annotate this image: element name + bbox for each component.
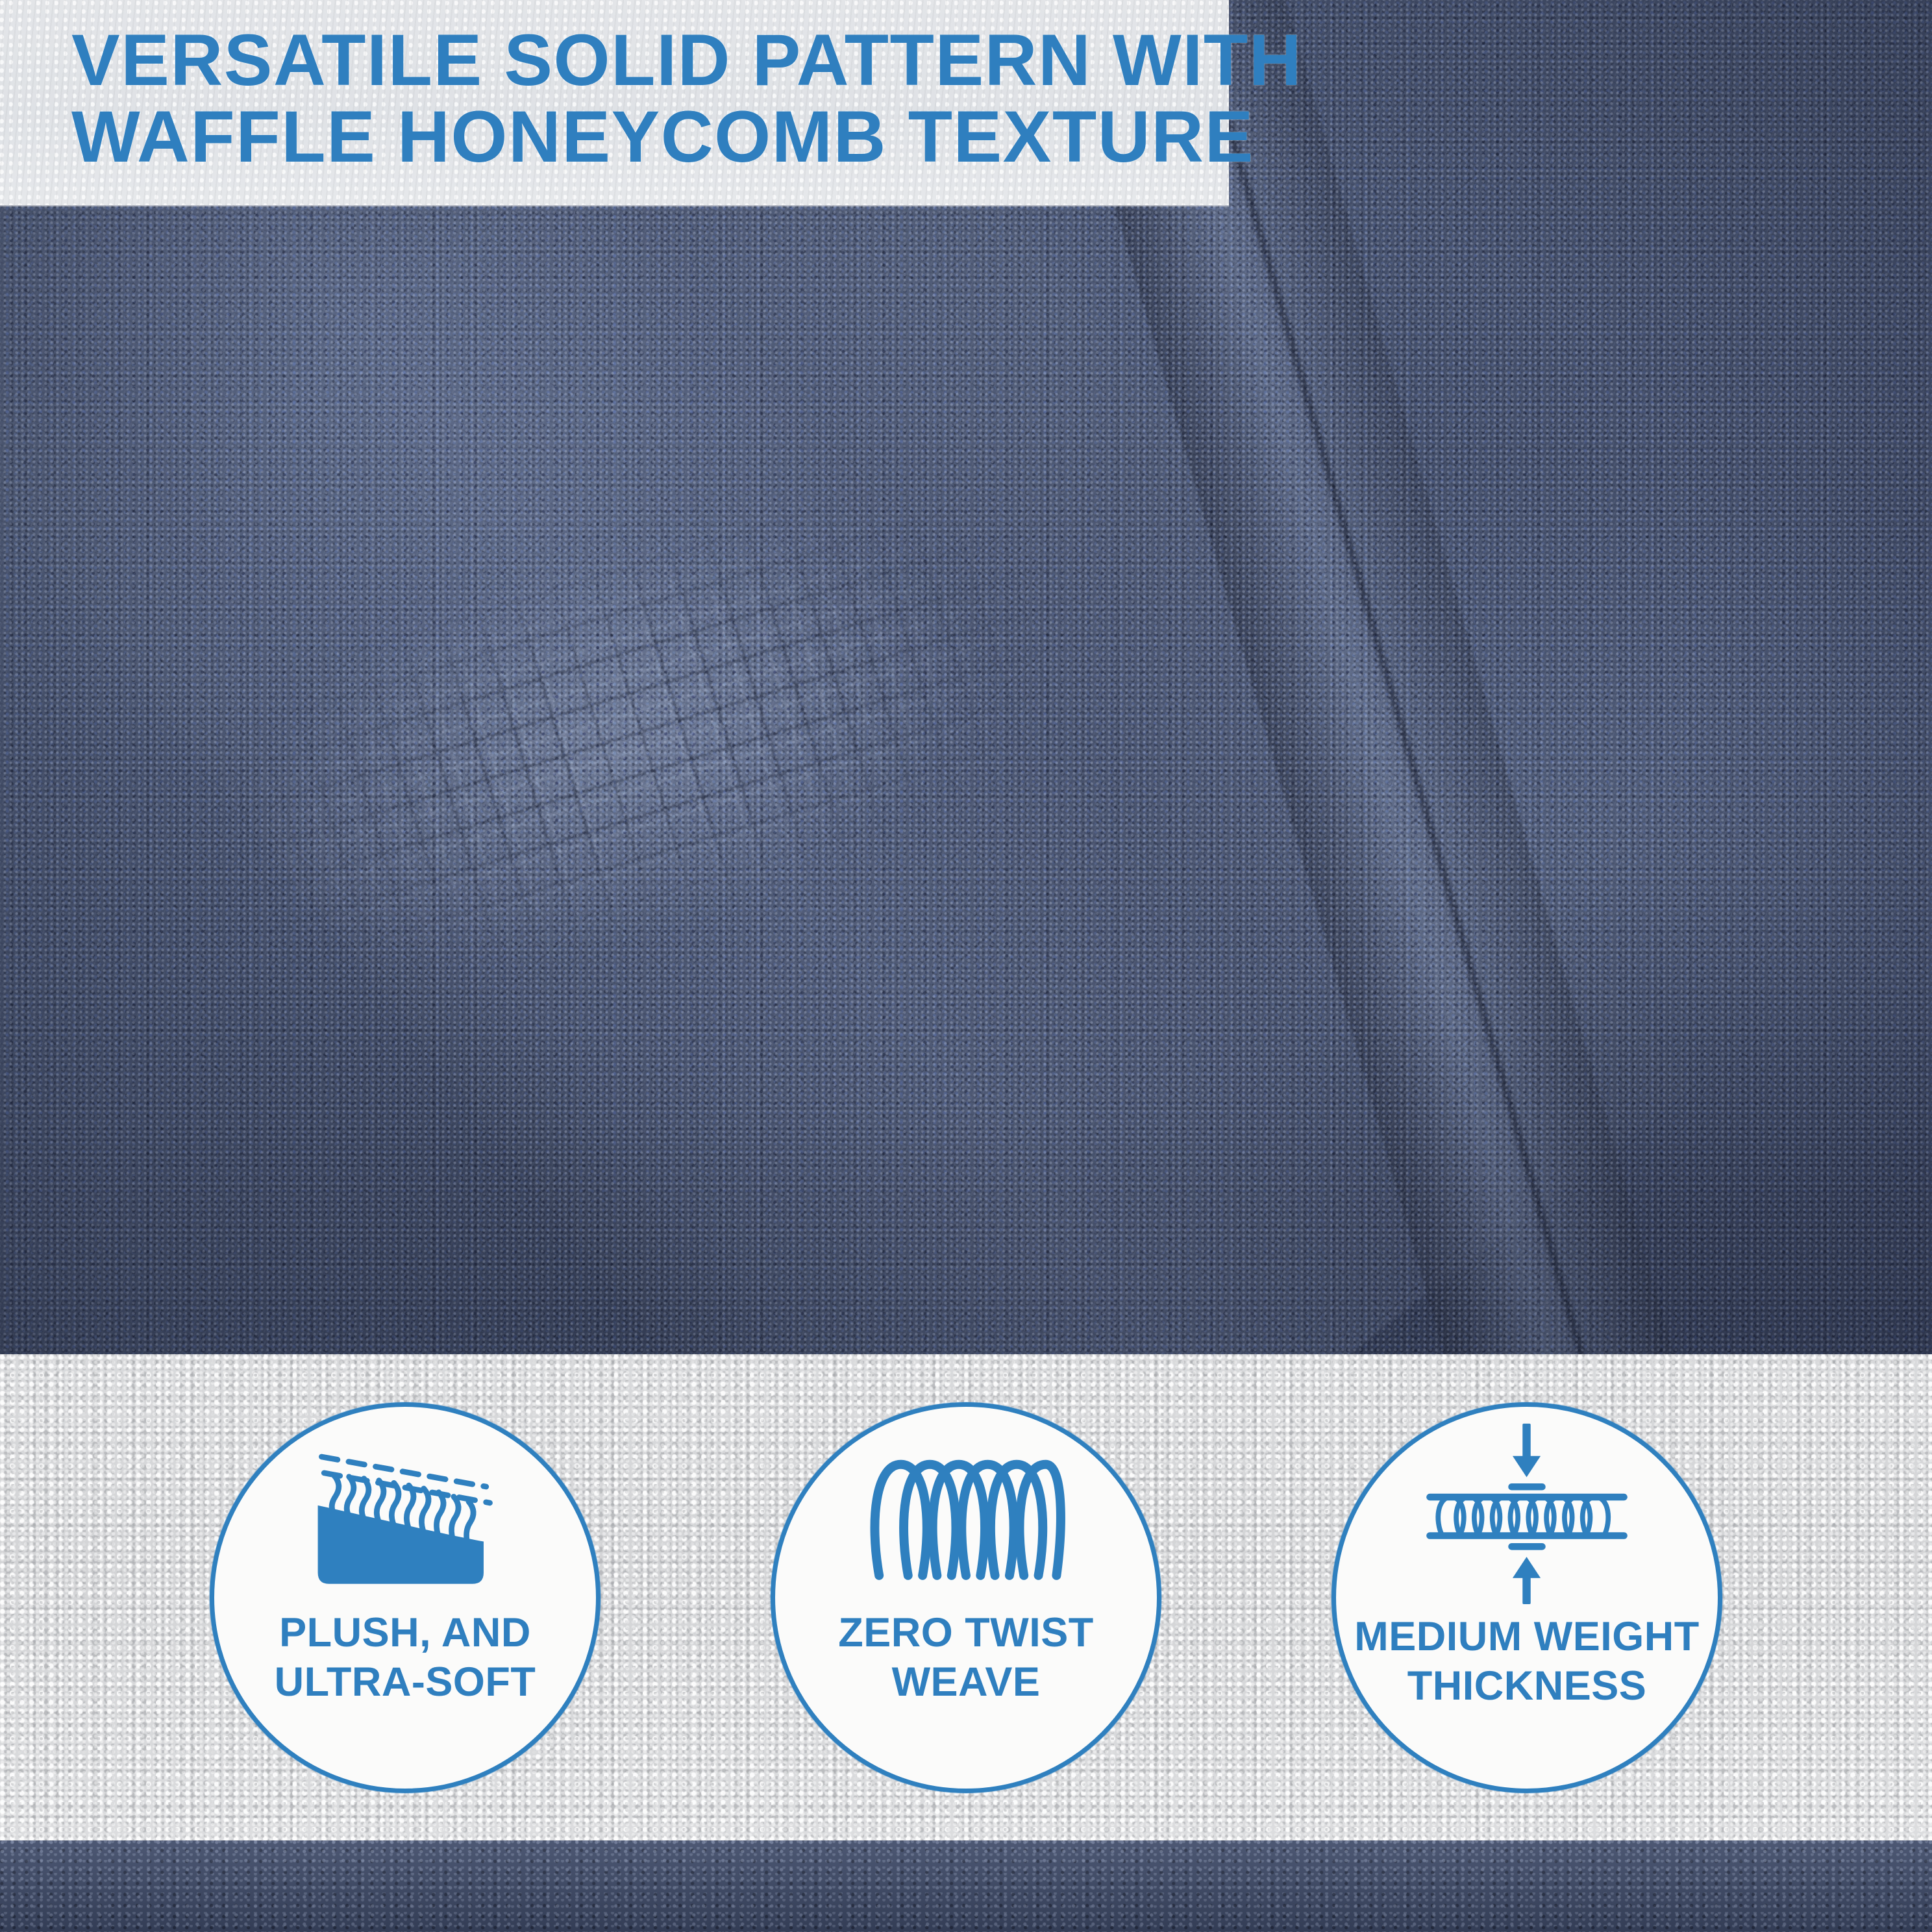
- badge-plush-ultra-soft[interactable]: PLUSH, AND ULTRA-SOFT: [210, 1402, 601, 1793]
- product-feature-graphic: VERSATILE SOLID PATTERN WITH WAFFLE HONE…: [0, 0, 1932, 1932]
- footer-sheen: [0, 1840, 1932, 1932]
- badge-zero-twist-label-line1: ZERO TWIST: [784, 1608, 1148, 1657]
- badge-row: PLUSH, AND ULTRA-SOFT: [0, 1354, 1932, 1840]
- badge-medium-weight-thickness[interactable]: MEDIUM WEIGHT THICKNESS: [1331, 1402, 1722, 1793]
- badge-plush-label: PLUSH, AND ULTRA-SOFT: [223, 1608, 587, 1707]
- feature-badges-panel: PLUSH, AND ULTRA-SOFT: [0, 1354, 1932, 1840]
- footer-fabric-strip: [0, 1840, 1932, 1932]
- headline-banner: VERSATILE SOLID PATTERN WITH WAFFLE HONE…: [0, 0, 1229, 205]
- badge-plush-label-line2: ULTRA-SOFT: [223, 1657, 587, 1707]
- yarn-loops-icon: [859, 1441, 1073, 1596]
- headline-line-2: WAFFLE HONEYCOMB TEXTURE: [71, 99, 1203, 175]
- plush-fabric-icon: [298, 1441, 512, 1596]
- thickness-arrows-icon: [1420, 1416, 1634, 1611]
- badge-plush-label-line1: PLUSH, AND: [223, 1608, 587, 1657]
- badge-thickness-label-line2: THICKNESS: [1345, 1661, 1709, 1711]
- badge-zero-twist-weave[interactable]: ZERO TWIST WEAVE: [771, 1402, 1161, 1793]
- badge-zero-twist-label: ZERO TWIST WEAVE: [784, 1608, 1148, 1707]
- headline-line-1: VERSATILE SOLID PATTERN WITH: [71, 22, 1203, 99]
- badge-thickness-label-line1: MEDIUM WEIGHT: [1345, 1612, 1709, 1661]
- badge-thickness-label: MEDIUM WEIGHT THICKNESS: [1345, 1612, 1709, 1711]
- badge-zero-twist-label-line2: WEAVE: [784, 1657, 1148, 1707]
